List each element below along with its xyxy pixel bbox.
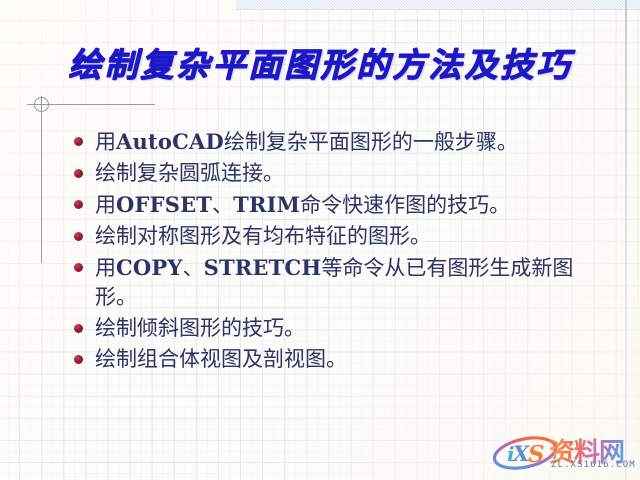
bullet-dot-icon — [74, 324, 83, 333]
list-item-label: 绘制倾斜图形的技巧。 — [95, 314, 305, 343]
watermark-url: ZL.XS1616.COM — [551, 460, 636, 470]
bullet-dot-icon — [74, 169, 83, 178]
list-item: 绘制对称图形及有均布特征的图形。 — [74, 222, 574, 251]
list-item: 用AutoCAD绘制复杂平面图形的一般步骤。 — [74, 127, 574, 157]
list-item-label: 绘制复杂圆弧连接。 — [95, 159, 284, 188]
watermark: i X S 资料网 ZL.XS1616.COM — [487, 432, 635, 476]
list-item: 用COPY、STRETCH等命令从已有图形生成新图形。 — [74, 253, 574, 312]
list-item: 绘制组合体视图及剖视图。 — [74, 345, 574, 374]
bullet-dot-icon — [74, 355, 83, 364]
bullet-dot-icon — [74, 137, 83, 146]
bullet-dot-icon — [74, 232, 83, 241]
bullet-list: 用AutoCAD绘制复杂平面图形的一般步骤。 绘制复杂圆弧连接。 用OFFSET… — [74, 127, 574, 376]
top-hatched-band — [236, 0, 640, 10]
list-item: 绘制倾斜图形的技巧。 — [74, 314, 574, 343]
list-item-label: 绘制组合体视图及剖视图。 — [95, 345, 347, 374]
list-item-label: 绘制对称图形及有均布特征的图形。 — [95, 222, 431, 251]
list-item-label: 用OFFSET、TRIM命令快速作图的技巧。 — [95, 190, 510, 220]
bullet-dot-icon — [74, 263, 83, 272]
list-item-label: 用AutoCAD绘制复杂平面图形的一般步骤。 — [95, 127, 518, 157]
bullet-dot-icon — [74, 200, 83, 209]
svg-text:S: S — [528, 441, 545, 468]
list-item: 绘制复杂圆弧连接。 — [74, 159, 574, 188]
page-title: 绘制复杂平面图形的方法及技巧 — [0, 38, 640, 86]
list-item-label: 用COPY、STRETCH等命令从已有图形生成新图形。 — [95, 253, 574, 312]
slide-canvas: 绘制复杂平面图形的方法及技巧 用AutoCAD绘制复杂平面图形的一般步骤。 绘制… — [0, 0, 640, 480]
list-item: 用OFFSET、TRIM命令快速作图的技巧。 — [74, 190, 574, 220]
